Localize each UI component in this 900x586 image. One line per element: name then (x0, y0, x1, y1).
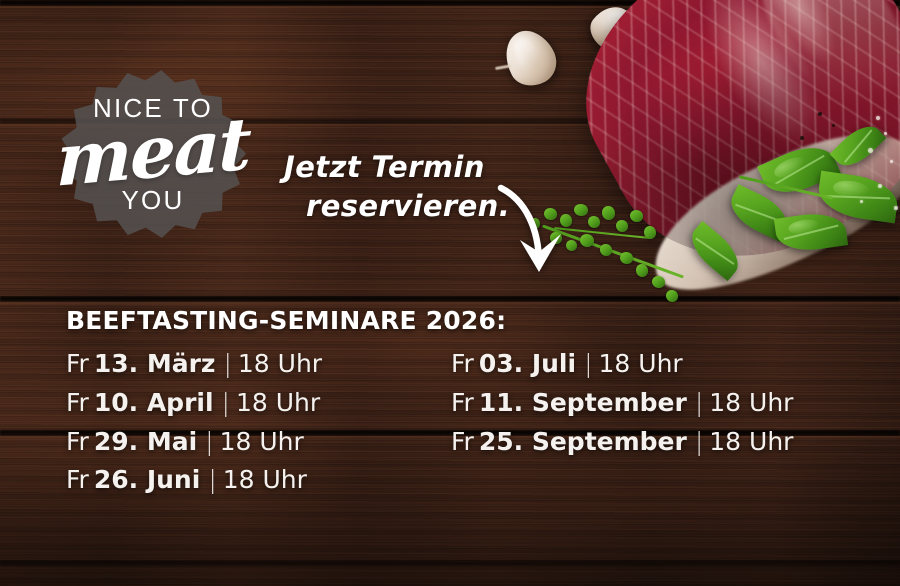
badge-text-stack: NICE TO meat YOU (58, 68, 248, 240)
seminar-weekday: Fr (66, 388, 89, 417)
seminar-date-row: Fr03. Juli|18 Uhr (451, 345, 836, 384)
seminar-weekday: Fr (451, 349, 474, 378)
nice-to-meat-you-badge: NICE TO meat YOU (58, 68, 248, 240)
seminar-date-row: Fr26. Juni|18 Uhr (66, 461, 451, 500)
badge-script-label: meat (56, 110, 250, 193)
curved-arrow-down-icon (495, 182, 575, 278)
seminar-date: 29. Mai (89, 427, 199, 456)
seminar-date-row: Fr13. März|18 Uhr (66, 345, 451, 384)
seminar-date-row: Fr11. September|18 Uhr (451, 384, 836, 423)
right-column: Fr03. Juli|18 UhrFr11. September|18 UhrF… (451, 345, 836, 500)
seminar-date: 03. Juli (474, 349, 578, 378)
seminar-separator: | (202, 465, 222, 494)
seminar-weekday: Fr (451, 388, 474, 417)
seminar-date: 13. März (89, 349, 218, 378)
seminar-weekday: Fr (66, 465, 89, 494)
seminar-weekday: Fr (451, 427, 474, 456)
seminar-time: 18 Uhr (223, 465, 307, 494)
seminar-heading: BEEFTASTING-SEMINARE 2026: (66, 306, 866, 335)
seminar-date-row: Fr29. Mai|18 Uhr (66, 423, 451, 462)
seminar-time: 18 Uhr (709, 388, 793, 417)
seminar-date: 11. September (474, 388, 689, 417)
cta-line-1: Jetzt Termin (284, 148, 524, 187)
seminar-separator: | (689, 427, 709, 456)
seminar-weekday: Fr (66, 349, 89, 378)
seminar-time: 18 Uhr (238, 349, 322, 378)
seminar-date: 10. April (89, 388, 216, 417)
seminar-separator: | (689, 388, 709, 417)
seminar-time: 18 Uhr (709, 427, 793, 456)
seminar-separator: | (217, 349, 237, 378)
cta-text-block: Jetzt Termin reservieren. (284, 148, 524, 225)
seminar-separator: | (578, 349, 598, 378)
beeftasting-banner: NICE TO meat YOU Jetzt Termin reserviere… (0, 0, 900, 586)
seminar-time: 18 Uhr (220, 427, 304, 456)
seminar-separator: | (199, 427, 219, 456)
seminar-date-columns: Fr13. März|18 UhrFr10. April|18 UhrFr29.… (66, 345, 866, 500)
seminar-dates-section: BEEFTASTING-SEMINARE 2026: Fr13. März|18… (66, 306, 866, 500)
seminar-date-row: Fr10. April|18 Uhr (66, 384, 451, 423)
seminar-weekday: Fr (66, 427, 89, 456)
seminar-time: 18 Uhr (236, 388, 320, 417)
seminar-time: 18 Uhr (599, 349, 683, 378)
seminar-date-row: Fr25. September|18 Uhr (451, 423, 836, 462)
seminar-separator: | (216, 388, 236, 417)
left-column: Fr13. März|18 UhrFr10. April|18 UhrFr29.… (66, 345, 451, 500)
seminar-date: 25. September (474, 427, 689, 456)
seminar-date: 26. Juni (89, 465, 202, 494)
cta-line-2: reservieren. (284, 187, 524, 226)
